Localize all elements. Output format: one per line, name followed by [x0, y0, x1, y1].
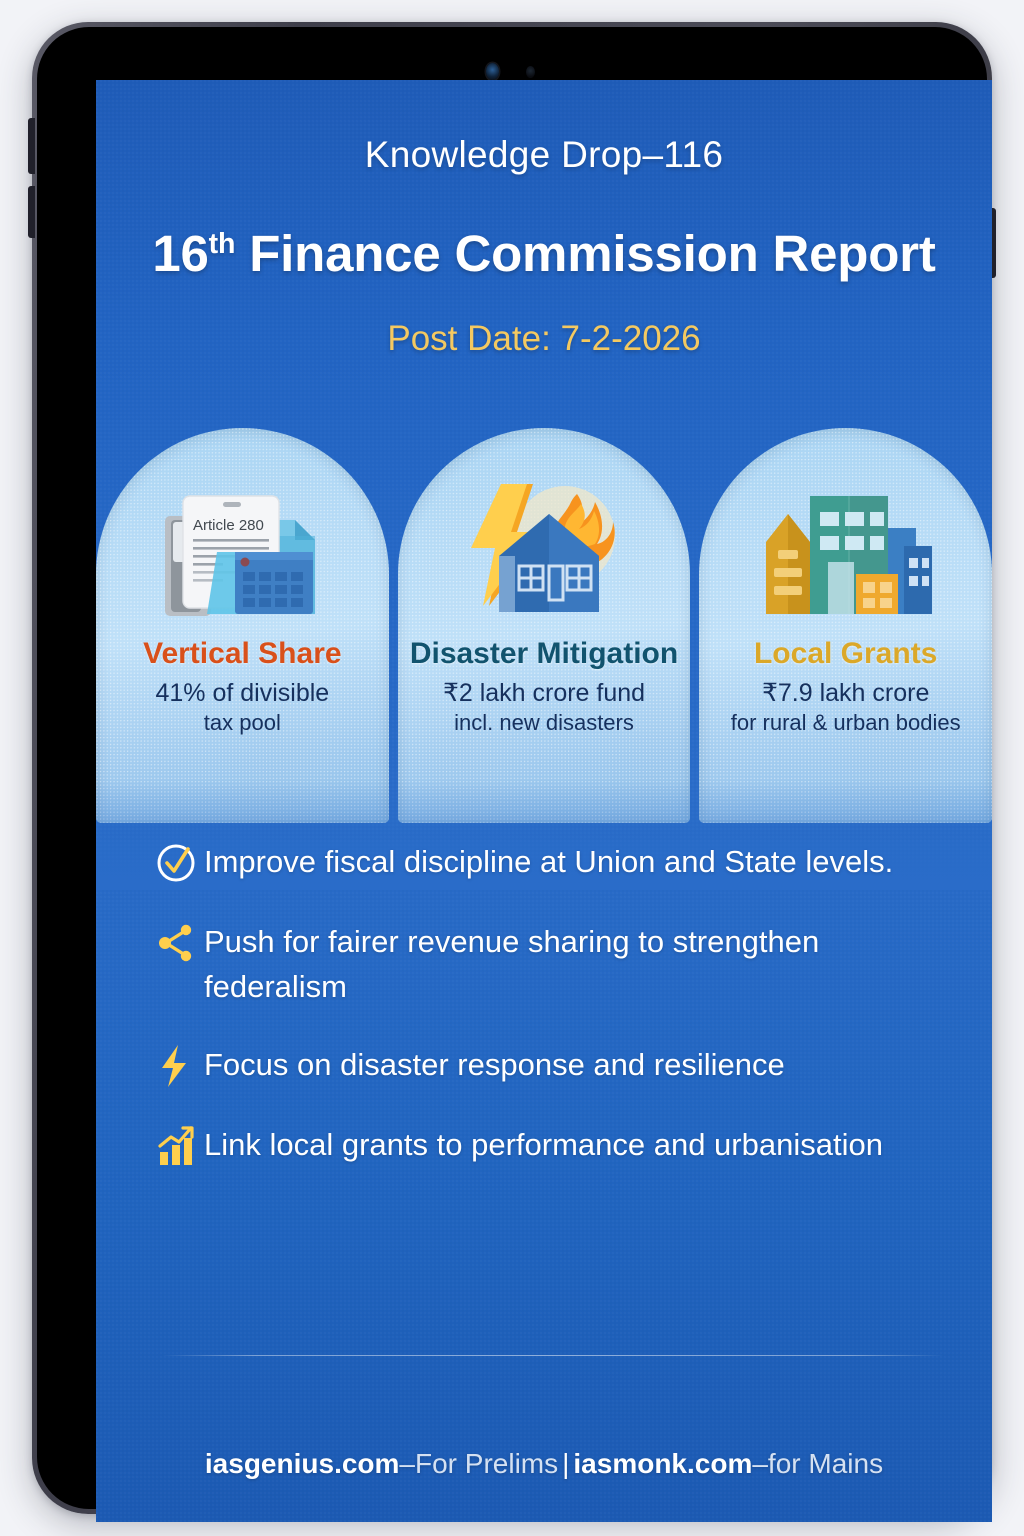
title-number: 16	[152, 225, 208, 282]
check-circle-icon	[154, 840, 204, 886]
list-item: Focus on disaster response and resilienc…	[154, 1043, 944, 1089]
list-item-label: Link local grants to performance and urb…	[204, 1123, 883, 1168]
infographic-screen: Knowledge Drop–116 16th Finance Commissi…	[96, 80, 992, 1522]
card-subtitle-line1: ₹2 lakh crore fund	[443, 679, 645, 707]
card-subtitle-line2: incl. new disasters	[443, 710, 645, 735]
lightning-bolt-icon	[154, 1043, 204, 1089]
volume-down-button[interactable]	[28, 186, 35, 238]
card-subtitle-line1: ₹7.9 lakh crore	[762, 679, 929, 707]
camera-lens-icon	[486, 63, 499, 80]
list-item: Improve fiscal discipline at Union and S…	[154, 840, 944, 886]
card-disaster-mitigation: Disaster Mitigation ₹2 lakh crore fundin…	[398, 428, 691, 823]
card-subtitle: ₹7.9 lakh crorefor rural & urban bodies	[721, 679, 971, 735]
list-item: Link local grants to performance and urb…	[154, 1123, 944, 1169]
header: Knowledge Drop–116 16th Finance Commissi…	[96, 80, 992, 359]
card-subtitle: 41% of divisibletax pool	[145, 679, 339, 735]
card-subtitle-line2: tax pool	[155, 710, 329, 735]
document-article-280-icon: Article 280	[149, 474, 335, 624]
card-local-grants: Local Grants ₹7.9 lakh crorefor rural & …	[699, 428, 992, 823]
title-ordinal-suffix: th	[209, 228, 236, 260]
bar-chart-growth-icon	[154, 1123, 204, 1169]
list-item-label: Focus on disaster response and resilienc…	[204, 1043, 785, 1088]
takeaways-list: Improve fiscal discipline at Union and S…	[154, 840, 944, 1203]
lightning-burning-house-icon	[449, 474, 639, 624]
share-network-icon	[154, 920, 204, 966]
footer-separator: |	[558, 1448, 573, 1479]
list-item: Push for fairer revenue sharing to stren…	[154, 920, 944, 1009]
highlight-cards-row: Article 280	[96, 428, 992, 823]
city-buildings-icon	[748, 474, 944, 624]
card-title: Disaster Mitigation	[410, 638, 678, 670]
knowledge-drop-label: Knowledge Drop–116	[96, 134, 992, 176]
footer-site-2-tail: –for Mains	[752, 1448, 883, 1479]
post-date: Post Date: 7-2-2026	[96, 319, 992, 359]
ambient-sensor-icon	[526, 66, 535, 78]
svg-text:Article 280: Article 280	[193, 517, 264, 534]
footer-site-2[interactable]: iasmonk.com	[573, 1448, 752, 1479]
card-title: Vertical Share	[143, 638, 341, 670]
page-title: 16th Finance Commission Report	[96, 224, 992, 283]
card-title: Local Grants	[754, 638, 937, 670]
footer: iasgenius.com–For Prelims|iasmonk.com–fo…	[96, 1448, 992, 1480]
card-subtitle: ₹2 lakh crore fundincl. new disasters	[433, 679, 655, 735]
tablet-frame: Knowledge Drop–116 16th Finance Commissi…	[32, 22, 992, 1514]
title-rest: Finance Commission Report	[235, 225, 935, 282]
list-item-label: Improve fiscal discipline at Union and S…	[204, 840, 893, 885]
footer-site-1-tail: –For Prelims	[399, 1448, 558, 1479]
footer-divider	[162, 1355, 944, 1356]
list-item-label: Push for fairer revenue sharing to stren…	[204, 920, 944, 1009]
card-vertical-share: Article 280	[96, 428, 389, 823]
volume-up-button[interactable]	[28, 118, 35, 174]
footer-site-1[interactable]: iasgenius.com	[205, 1448, 400, 1479]
card-subtitle-line2: for rural & urban bodies	[731, 710, 961, 735]
card-subtitle-line1: 41% of divisible	[155, 679, 329, 707]
